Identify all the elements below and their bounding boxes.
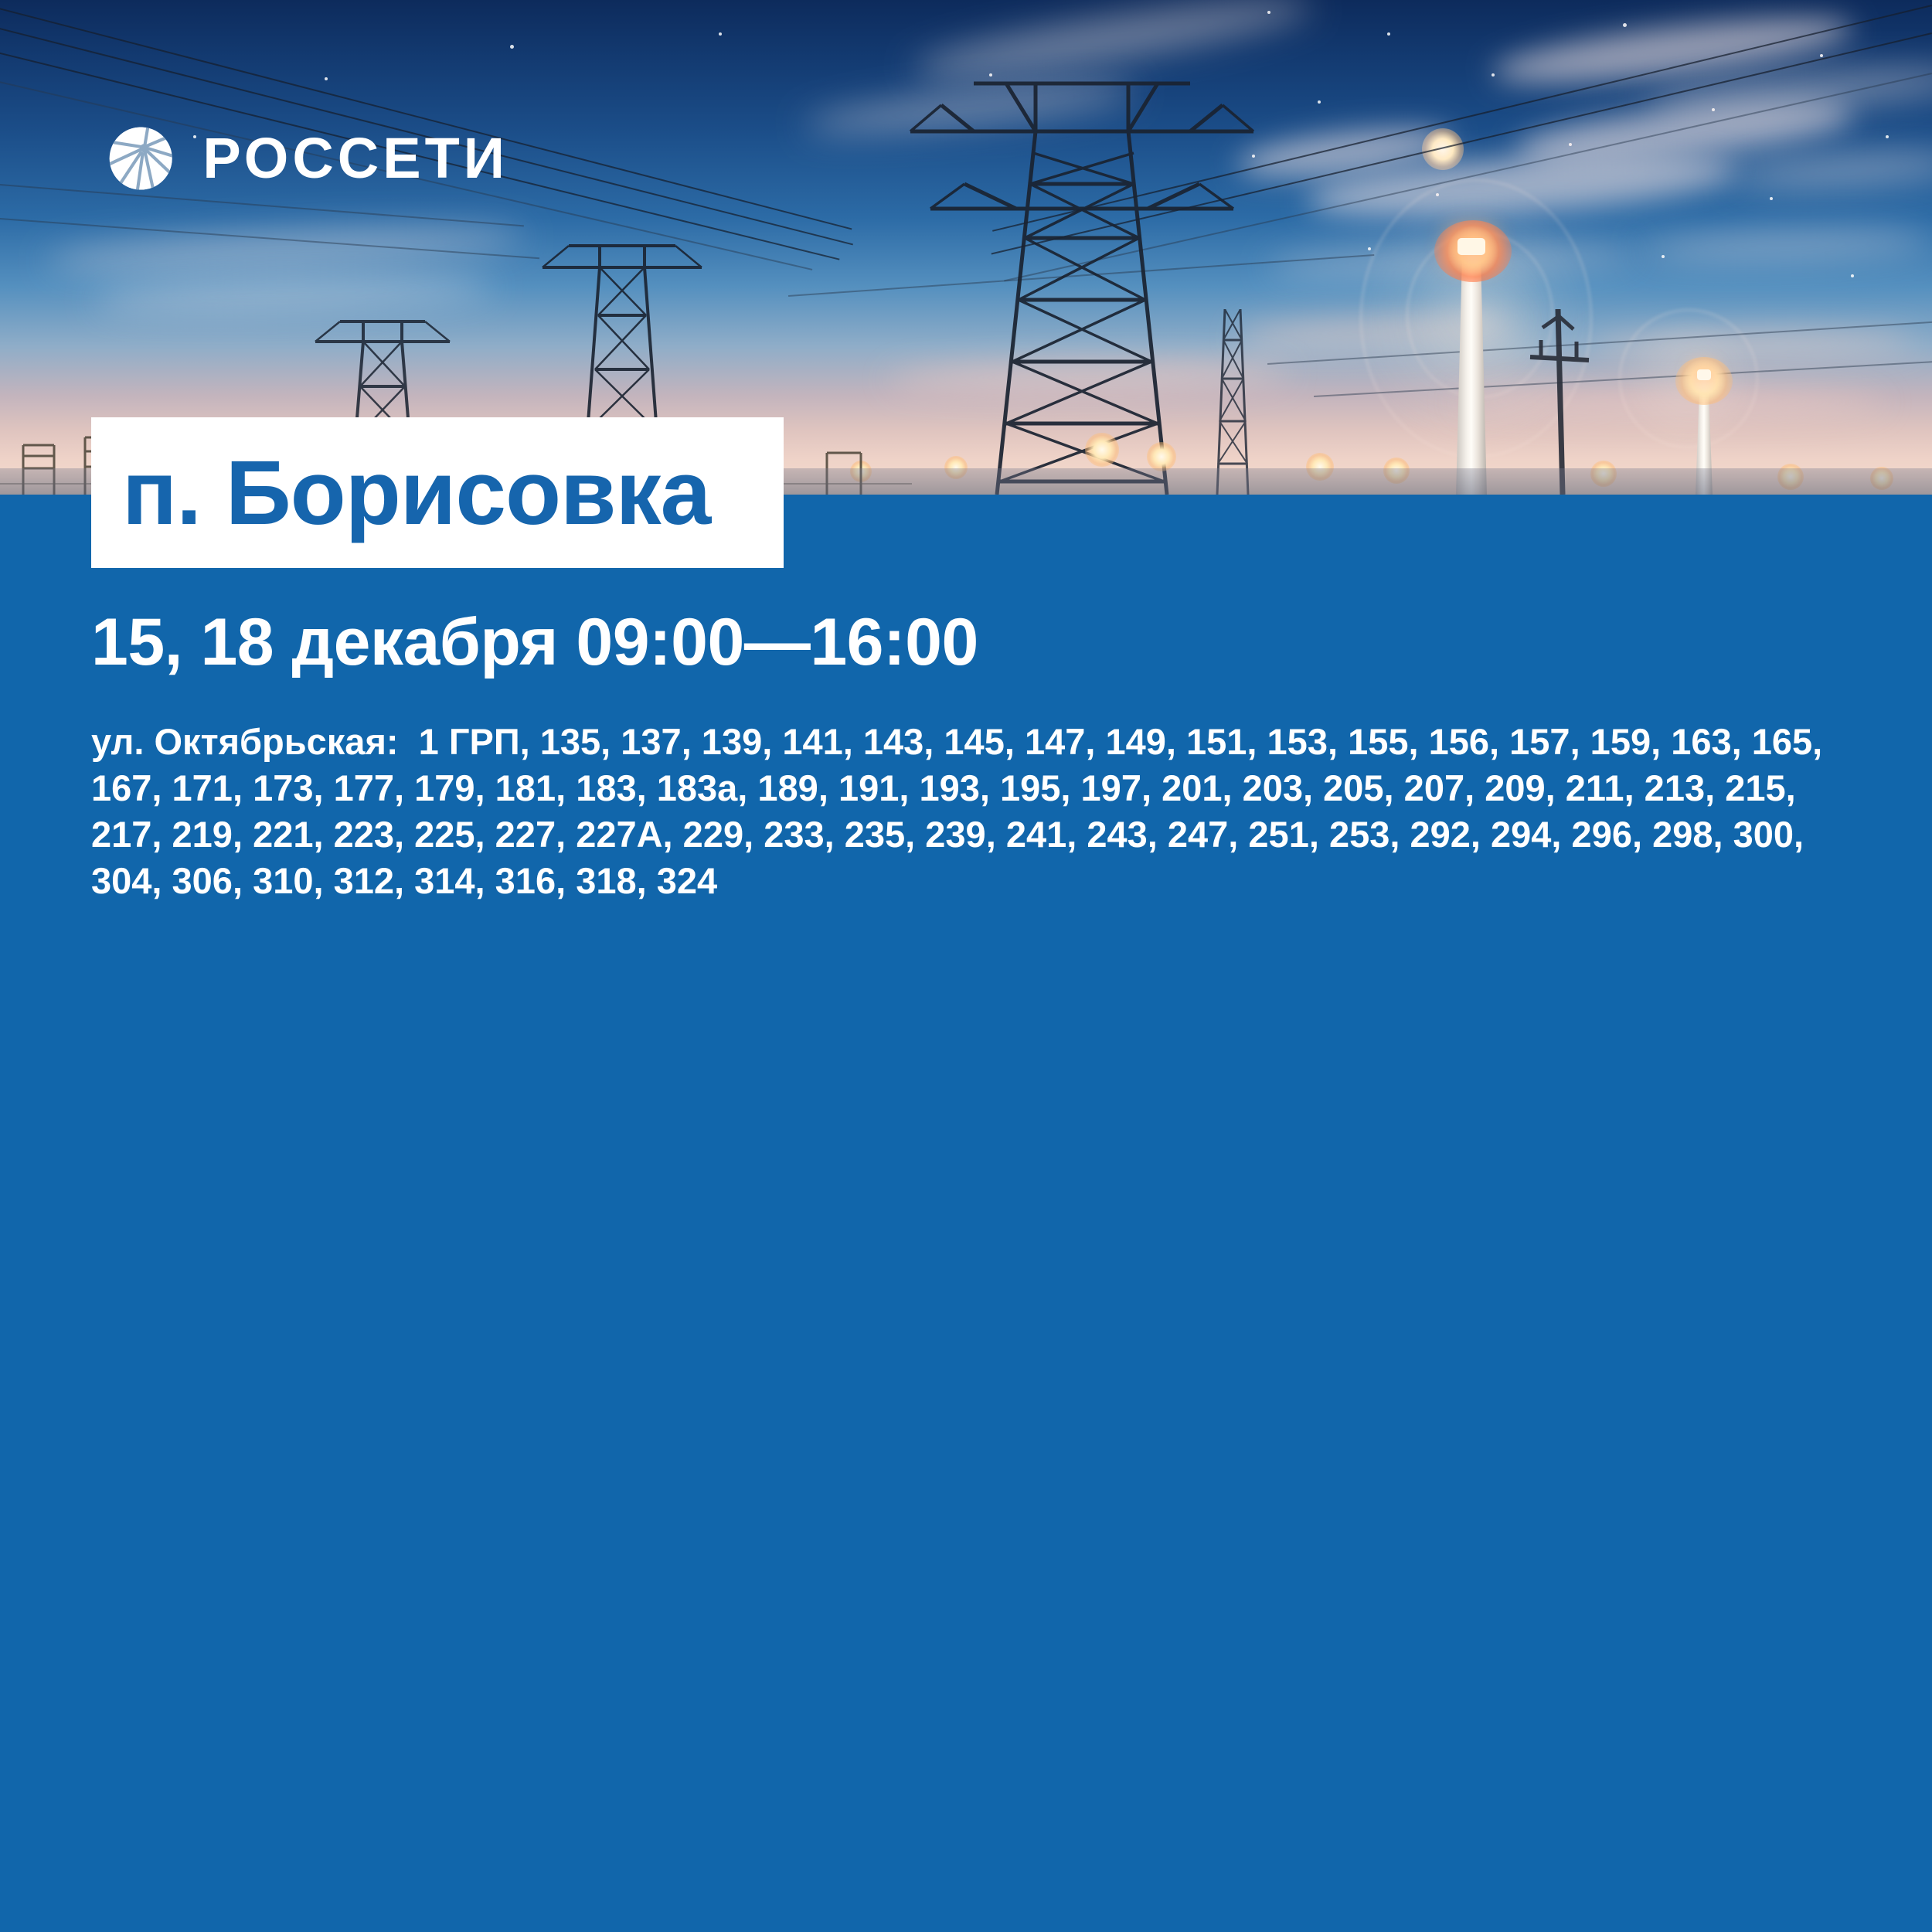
page-title: п. Борисовка <box>91 447 710 539</box>
star-decor <box>1318 100 1321 104</box>
mast-lamp-glow-2 <box>1675 357 1733 405</box>
notice-body-panel <box>0 495 1932 1932</box>
star-decor <box>510 45 514 49</box>
star-decor <box>719 32 722 36</box>
star-decor <box>1623 23 1627 27</box>
yard-light <box>1147 442 1176 471</box>
transmission-tower-far <box>1209 309 1256 495</box>
star-decor <box>325 77 328 80</box>
star-decor <box>1770 197 1773 200</box>
star-decor <box>1387 32 1390 36</box>
cloud-decor <box>1638 226 1932 263</box>
locality-title-plate: п. Борисовка <box>91 417 784 568</box>
star-decor <box>1851 274 1854 277</box>
star-decor <box>1820 54 1823 57</box>
star-decor <box>1368 247 1371 250</box>
rosseti-sunburst-logo-icon <box>107 110 175 207</box>
address-list: ул. Октябрьская: 1 ГРП, 135, 137, 139, 1… <box>91 719 1869 905</box>
cloud-decor <box>1730 147 1932 194</box>
outage-datetime: 15, 18 декабря 09:00—16:00 <box>91 604 978 681</box>
mast-lamp-2 <box>1697 369 1711 380</box>
mast-lamp <box>1458 238 1485 255</box>
street-label: ул. Октябрьская: <box>91 721 399 762</box>
outage-notice-poster: РОССЕТИ п. Борисовка 15, 18 декабря 09:0… <box>0 0 1932 1932</box>
brand-logo: РОССЕТИ <box>107 108 509 209</box>
star-decor <box>1886 135 1889 138</box>
brand-name: РОССЕТИ <box>202 130 509 187</box>
yard-light <box>1085 433 1119 467</box>
